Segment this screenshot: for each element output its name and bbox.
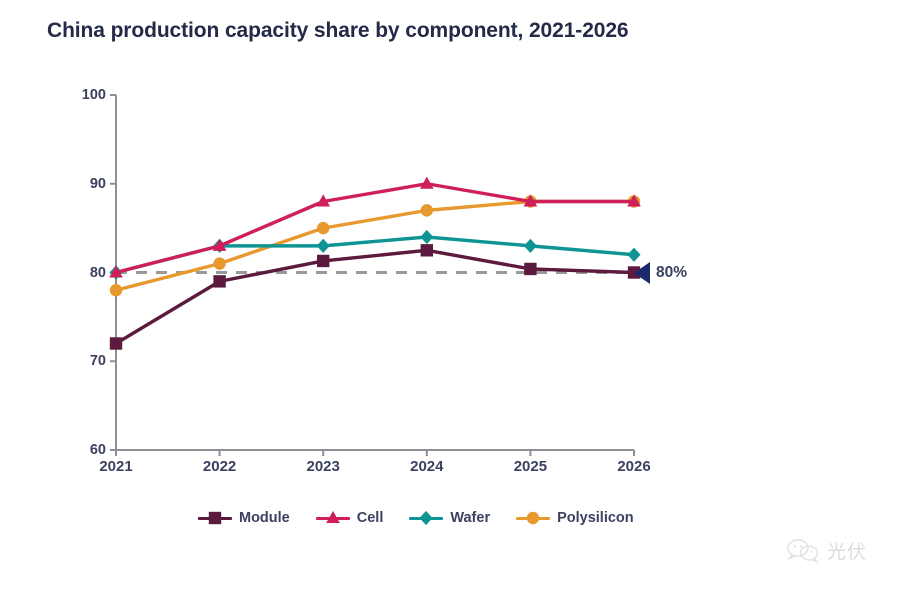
plot-area — [116, 95, 634, 450]
legend-swatch-diamond-icon — [409, 510, 443, 526]
data-point-marker — [317, 239, 330, 253]
data-point-marker — [110, 284, 122, 296]
data-point-marker — [421, 204, 433, 216]
series-polysilicon — [110, 195, 640, 296]
series-line — [116, 202, 634, 291]
legend-label: Module — [239, 510, 290, 526]
x-tick-label: 2023 — [307, 458, 340, 475]
wechat-icon — [787, 538, 821, 564]
legend-swatch-square-icon — [198, 510, 232, 526]
watermark-text: 光伏 — [827, 537, 867, 564]
plot-svg — [116, 95, 634, 450]
data-point-marker — [420, 230, 433, 244]
data-point-marker — [110, 337, 122, 349]
legend-label: Cell — [357, 510, 384, 526]
x-tick-label: 2024 — [410, 458, 443, 475]
y-axis-tick-labels: 100 90 80 70 60 — [72, 95, 106, 450]
threshold-annotation: 80% — [634, 260, 687, 286]
x-tick-label: 2022 — [203, 458, 236, 475]
data-point-marker — [420, 177, 434, 189]
y-tick-label: 100 — [82, 87, 106, 103]
left-arrow-icon — [634, 262, 650, 284]
chart-title: China production capacity share by compo… — [47, 19, 629, 43]
legend-item-polysilicon[interactable]: Polysilicon — [516, 510, 634, 526]
data-point-marker — [527, 512, 539, 524]
legend-label: Polysilicon — [557, 510, 634, 526]
data-point-marker — [420, 511, 433, 525]
legend-item-wafer[interactable]: Wafer — [409, 510, 490, 526]
legend-swatch-circle-icon — [516, 510, 550, 526]
y-tick-label: 60 — [90, 442, 106, 458]
data-point-marker — [421, 244, 433, 256]
data-point-marker — [524, 239, 537, 253]
threshold-label: 80% — [656, 264, 687, 282]
watermark: 光伏 — [787, 537, 867, 564]
legend-item-cell[interactable]: Cell — [316, 510, 384, 526]
legend-label: Wafer — [450, 510, 490, 526]
y-tick-label: 90 — [90, 176, 106, 192]
x-tick-label: 2026 — [617, 458, 650, 475]
legend-item-module[interactable]: Module — [198, 510, 290, 526]
data-point-marker — [317, 222, 329, 234]
legend-swatch-triangle-icon — [316, 510, 350, 526]
chart-figure: China production capacity share by compo… — [0, 0, 920, 598]
data-point-marker — [213, 257, 225, 269]
series-module — [110, 244, 640, 350]
chart-legend: Module Cell Wafer Polysilicon — [198, 510, 634, 526]
x-tick-label: 2025 — [514, 458, 547, 475]
x-axis-tick-labels: 2021 2022 2023 2024 2025 2026 — [116, 458, 634, 480]
data-point-marker — [326, 511, 340, 523]
series-line — [116, 250, 634, 343]
data-point-marker — [317, 255, 329, 267]
series-cell — [109, 177, 641, 278]
data-point-marker — [209, 512, 221, 524]
data-point-marker — [524, 263, 536, 275]
y-tick-label: 70 — [90, 353, 106, 369]
data-point-marker — [213, 275, 225, 287]
x-tick-label: 2021 — [99, 458, 132, 475]
series-line — [116, 184, 634, 273]
y-tick-label: 80 — [90, 265, 106, 281]
